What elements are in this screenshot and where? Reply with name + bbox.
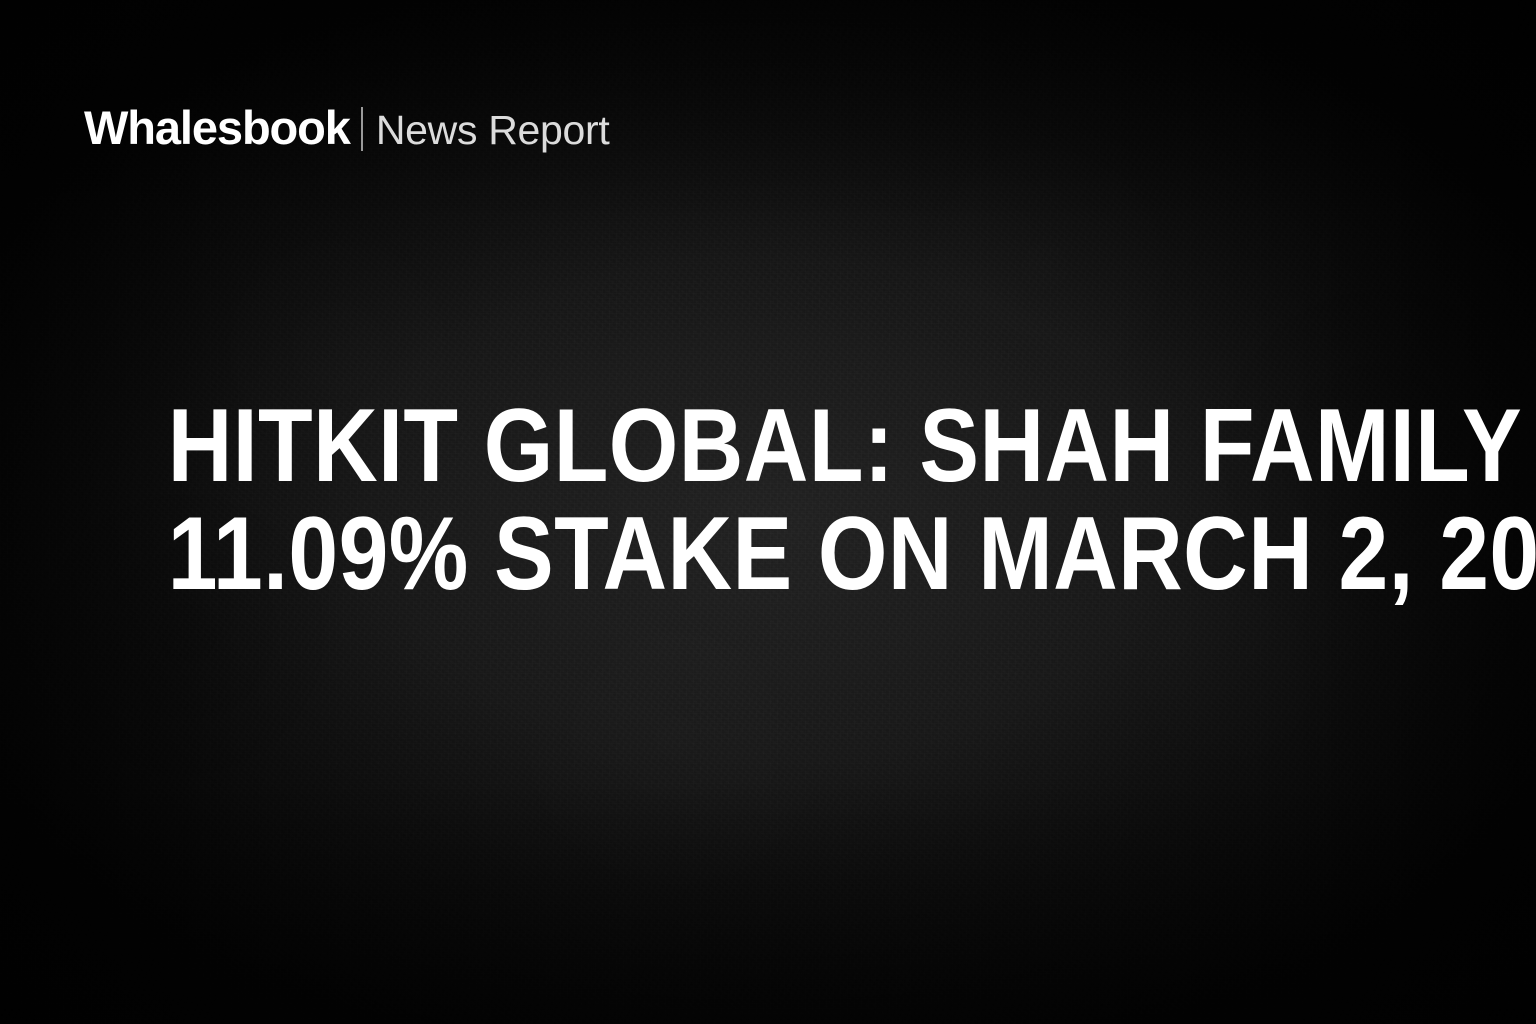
- brand-logo-lockup: Whalesbook News Report: [84, 104, 610, 151]
- headline-line-2: 11.09% STAKE ON MARCH 2, 2026: [168, 500, 1369, 608]
- brand-wordmark: Whalesbook: [84, 104, 350, 151]
- brand-section-label: News Report: [376, 110, 610, 151]
- brand-divider: [361, 107, 363, 151]
- headline-line-1: HITKIT GLOBAL: SHAH FAMILY EXITS: [168, 392, 1369, 500]
- headline: HITKIT GLOBAL: SHAH FAMILY EXITS 11.09% …: [0, 392, 1536, 608]
- news-report-card: Whalesbook News Report HITKIT GLOBAL: SH…: [0, 0, 1536, 1024]
